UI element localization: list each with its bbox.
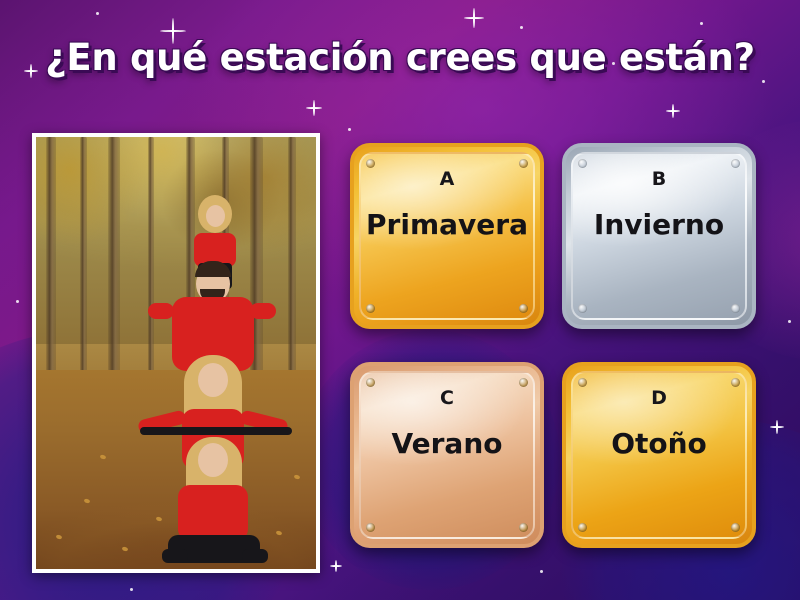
rivet-icon (578, 378, 587, 387)
sparkle-icon (330, 560, 342, 572)
star-dot (540, 570, 543, 573)
question-photo (36, 137, 316, 569)
rivet-icon (731, 378, 740, 387)
answer-letter: C (440, 387, 454, 409)
answer-label: Primavera (360, 210, 534, 241)
star-dot (96, 12, 99, 15)
answer-label: Verano (385, 429, 508, 460)
rivet-icon (366, 378, 375, 387)
answer-letter: B (652, 168, 666, 190)
sparkle-icon (770, 420, 784, 434)
star-dot (700, 22, 703, 25)
star-dot (788, 320, 791, 323)
rivet-icon (366, 304, 375, 313)
answer-option-a[interactable]: A Primavera (350, 143, 544, 329)
sparkle-icon (464, 8, 484, 28)
sparkle-icon (666, 104, 680, 118)
answer-letter: D (651, 387, 667, 409)
star-dot (130, 588, 133, 591)
quiz-slide: ¿En qué estación crees que están? (0, 0, 800, 600)
rivet-icon (519, 523, 528, 532)
answer-label: Invierno (588, 210, 730, 241)
answer-option-b[interactable]: B Invierno (562, 143, 756, 329)
answer-option-c[interactable]: C Verano (350, 362, 544, 548)
answer-letter: A (440, 168, 455, 190)
rivet-icon (731, 304, 740, 313)
star-dot (16, 300, 19, 303)
rivet-icon (366, 523, 375, 532)
sparkle-icon (306, 100, 322, 116)
rivet-icon (731, 523, 740, 532)
rivet-icon (519, 159, 528, 168)
rivet-icon (731, 159, 740, 168)
answer-option-d[interactable]: D Otoño (562, 362, 756, 548)
rivet-icon (578, 304, 587, 313)
question-photo-frame (32, 133, 320, 573)
answer-label: Otoño (605, 429, 713, 460)
rivet-icon (366, 159, 375, 168)
rivet-icon (519, 378, 528, 387)
rivet-icon (519, 304, 528, 313)
star-dot (348, 128, 351, 131)
rivet-icon (578, 523, 587, 532)
question-title: ¿En qué estación crees que están? (0, 36, 800, 79)
star-dot (520, 26, 523, 29)
rivet-icon (578, 159, 587, 168)
star-dot (762, 80, 765, 83)
